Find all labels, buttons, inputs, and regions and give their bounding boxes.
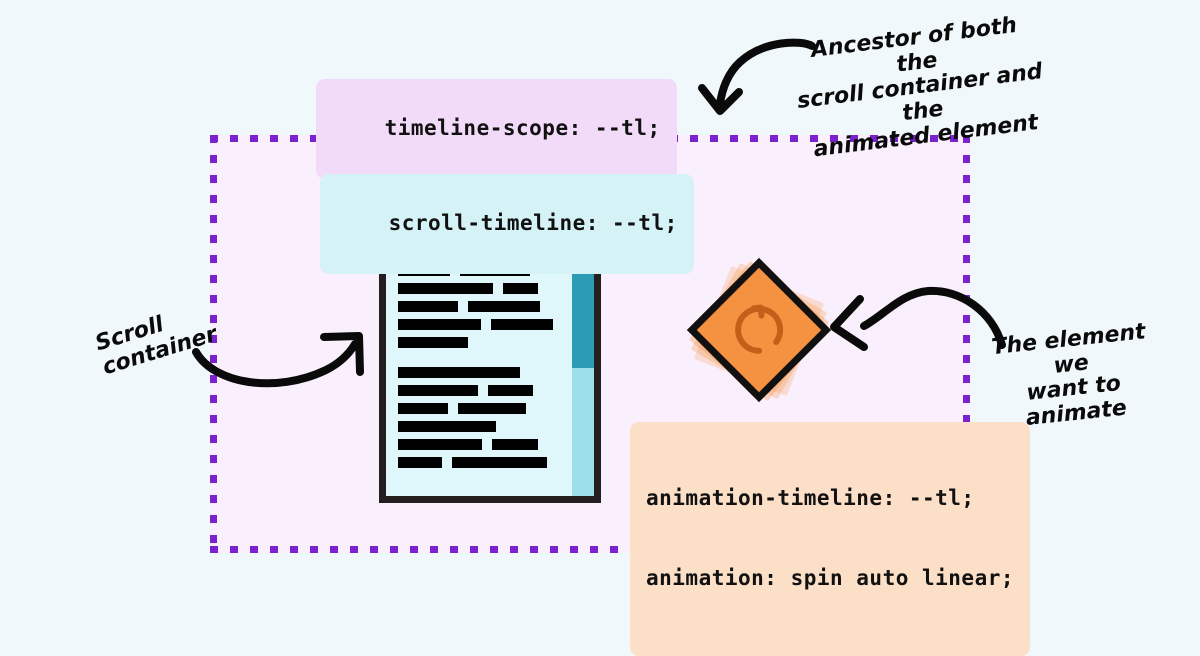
- text-line-row: [398, 457, 560, 468]
- label-scroll-timeline-text: scroll-timeline: --tl;: [389, 211, 678, 235]
- scrollbar-track[interactable]: [572, 235, 594, 496]
- text-line-bar: [398, 421, 496, 432]
- text-line-row: [398, 385, 560, 396]
- text-line-bar: [468, 301, 540, 312]
- text-line-bar: [503, 283, 538, 294]
- text-line-row: [398, 439, 560, 450]
- label-timeline-scope-text: timeline-scope: --tl;: [385, 116, 661, 140]
- text-line-row: [398, 319, 560, 330]
- text-line-bar: [398, 439, 482, 450]
- text-line-bar: [491, 319, 553, 330]
- text-line-bar: [458, 403, 526, 414]
- text-line-bar: [398, 457, 442, 468]
- text-line-bar: [398, 301, 458, 312]
- label-animation-line2: animation: spin auto linear;: [646, 565, 1014, 592]
- text-line-bar: [398, 319, 481, 330]
- label-animation: animation-timeline: --tl; animation: spi…: [630, 422, 1030, 656]
- arrow-animated-element-icon: [820, 283, 1010, 358]
- text-line-row: [398, 403, 560, 414]
- arrow-scroll-container-icon: [190, 330, 375, 400]
- text-line-bar: [492, 439, 538, 450]
- animated-element: [686, 258, 832, 404]
- text-line-row: [398, 283, 560, 294]
- spin-refresh-icon: [731, 302, 787, 358]
- text-line-row: [398, 301, 560, 312]
- text-line-row: [398, 337, 560, 348]
- text-line-row: [398, 421, 560, 432]
- text-line-bar: [398, 403, 448, 414]
- text-line-bar: [488, 385, 533, 396]
- arrow-ancestor-icon: [694, 34, 824, 124]
- animated-square: [687, 258, 831, 402]
- diagram-canvas: timeline-scope: --tl; scroll-timeline: -…: [0, 0, 1200, 630]
- scroll-container-content: [386, 235, 572, 496]
- scrollbar-thumb[interactable]: [572, 269, 594, 368]
- text-line-row: [398, 367, 560, 378]
- text-line-bar: [398, 385, 478, 396]
- text-line-bar: [398, 337, 468, 348]
- text-line-bar: [398, 367, 520, 378]
- label-timeline-scope: timeline-scope: --tl;: [316, 79, 677, 179]
- label-scroll-timeline: scroll-timeline: --tl;: [320, 174, 694, 274]
- annotation-ancestor: Ancestor of both the scroll container an…: [788, 11, 1051, 164]
- text-line-bar: [398, 283, 493, 294]
- text-line-bar: [452, 457, 547, 468]
- label-animation-line1: animation-timeline: --tl;: [646, 485, 1014, 512]
